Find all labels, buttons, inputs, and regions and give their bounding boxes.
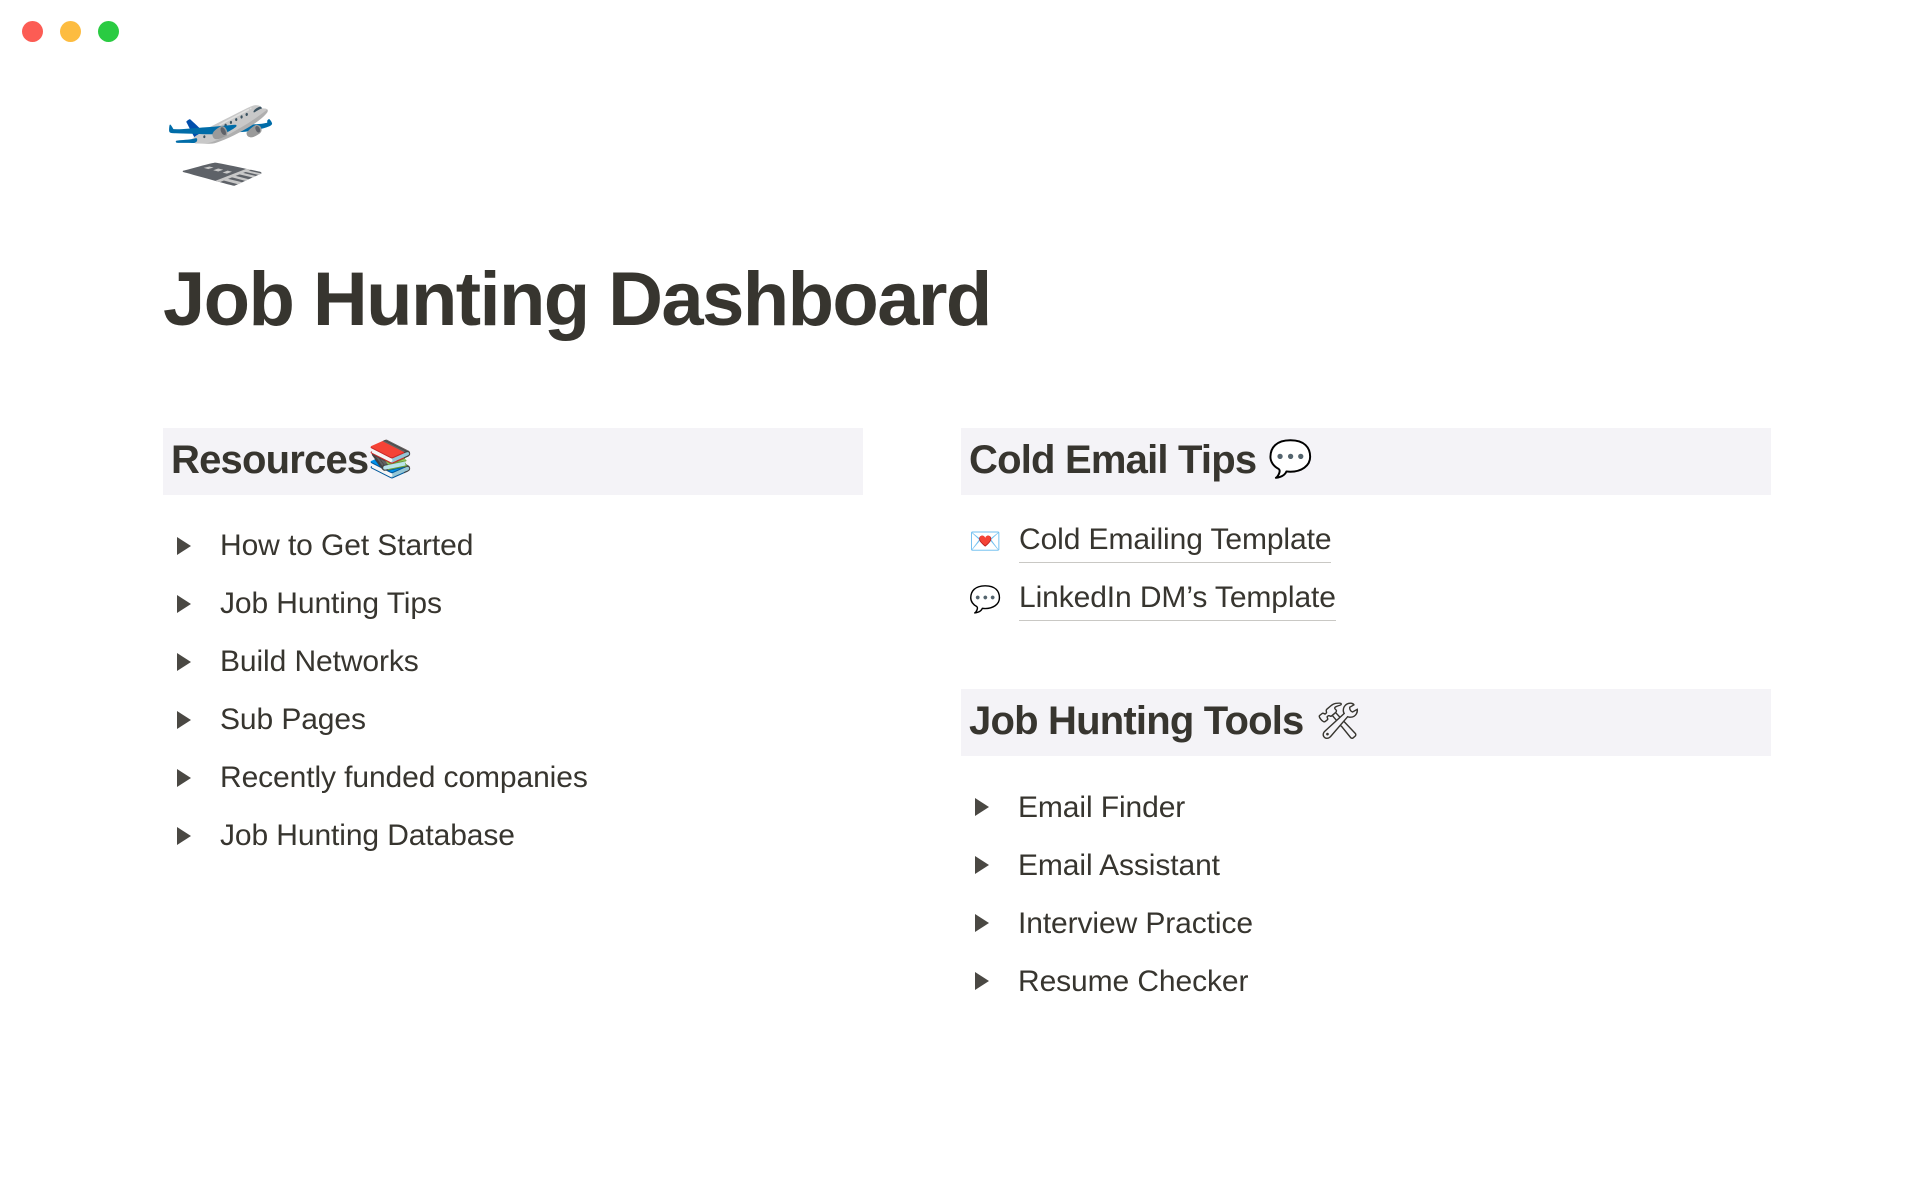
speech-balloon-emoji: 💬 (969, 587, 999, 613)
toggle-item-how-to-get-started[interactable]: How to Get Started (163, 517, 863, 575)
toggle-label: Email Finder (1018, 788, 1185, 827)
toggle-triangle-icon[interactable] (171, 710, 197, 730)
section-spacer (961, 629, 1771, 689)
window-traffic-lights (22, 21, 119, 42)
page-link-label[interactable]: LinkedIn DM’s Template (1019, 579, 1336, 620)
toggle-item-resume-checker[interactable]: Resume Checker (961, 952, 1771, 1010)
speech-balloon-emoji: 💬 (1268, 442, 1312, 478)
toggle-label: Email Assistant (1018, 846, 1220, 885)
toggle-label: Job Hunting Tips (220, 584, 442, 623)
cold-email-tips-heading: Cold Email Tips 💬 (969, 437, 1763, 484)
toggle-item-job-hunting-tips[interactable]: Job Hunting Tips (163, 575, 863, 633)
minimize-button[interactable] (60, 21, 81, 42)
toggle-triangle-icon[interactable] (171, 652, 197, 672)
window-titlebar (0, 0, 1920, 62)
toggle-triangle-icon[interactable] (969, 971, 995, 991)
columns-container: Resources 📚 How to Get Started (163, 428, 1800, 1010)
toggle-label: Job Hunting Database (220, 816, 515, 855)
toggle-label: Sub Pages (220, 700, 366, 739)
resources-toggle-list: How to Get Started Job Hunting Tips Buil… (163, 517, 863, 865)
cold-email-tips-heading-text: Cold Email Tips (969, 437, 1256, 484)
resources-heading-text: Resources (171, 437, 368, 484)
love-letter-emoji: 💌 (969, 529, 999, 555)
toggle-triangle-icon[interactable] (969, 913, 995, 933)
books-emoji: 📚 (368, 442, 412, 478)
toggle-item-build-networks[interactable]: Build Networks (163, 633, 863, 691)
toggle-item-email-assistant[interactable]: Email Assistant (961, 836, 1771, 894)
right-column: Cold Email Tips 💬 💌 Cold Emailing Templa… (961, 428, 1771, 1010)
left-column: Resources 📚 How to Get Started (163, 428, 863, 1010)
toggle-label: How to Get Started (220, 526, 473, 565)
link-item-cold-emailing-template[interactable]: 💌 Cold Emailing Template (961, 513, 1771, 571)
page-link-label[interactable]: Cold Emailing Template (1019, 521, 1331, 562)
resources-heading: Resources 📚 (171, 437, 855, 484)
toggle-label: Build Networks (220, 642, 419, 681)
close-button[interactable] (22, 21, 43, 42)
toggle-triangle-icon[interactable] (171, 594, 197, 614)
job-hunting-tools-heading: Job Hunting Tools 🛠 (969, 698, 1763, 745)
job-hunting-tools-toggle-list: Email Finder Email Assistant Interview P… (961, 778, 1771, 1010)
cold-email-tips-heading-band: Cold Email Tips 💬 (961, 428, 1771, 495)
hammer-and-wrench-emoji: 🛠 (1316, 704, 1361, 740)
toggle-triangle-icon[interactable] (969, 797, 995, 817)
toggle-label: Recently funded companies (220, 758, 588, 797)
airplane-departure-emoji[interactable]: 🛫 (163, 90, 1800, 208)
toggle-item-recently-funded-companies[interactable]: Recently funded companies (163, 749, 863, 807)
toggle-triangle-icon[interactable] (969, 855, 995, 875)
toggle-item-job-hunting-database[interactable]: Job Hunting Database (163, 807, 863, 865)
link-item-linkedin-dms-template[interactable]: 💬 LinkedIn DM’s Template (961, 571, 1771, 629)
toggle-triangle-icon[interactable] (171, 768, 197, 788)
toggle-label: Resume Checker (1018, 962, 1248, 1001)
page-title[interactable]: Job Hunting Dashboard (163, 260, 1800, 340)
toggle-item-interview-practice[interactable]: Interview Practice (961, 894, 1771, 952)
cold-email-tips-link-list: 💌 Cold Emailing Template 💬 LinkedIn DM’s… (961, 513, 1771, 629)
toggle-item-sub-pages[interactable]: Sub Pages (163, 691, 863, 749)
column-gap (863, 428, 961, 1010)
resources-heading-band: Resources 📚 (163, 428, 863, 495)
job-hunting-tools-heading-text: Job Hunting Tools (969, 698, 1304, 745)
toggle-item-email-finder[interactable]: Email Finder (961, 778, 1771, 836)
toggle-triangle-icon[interactable] (171, 536, 197, 556)
toggle-triangle-icon[interactable] (171, 826, 197, 846)
page-content: 🛫 Job Hunting Dashboard Resources 📚 (0, 62, 1920, 1200)
job-hunting-tools-heading-band: Job Hunting Tools 🛠 (961, 689, 1771, 756)
toggle-label: Interview Practice (1018, 904, 1253, 943)
maximize-button[interactable] (98, 21, 119, 42)
